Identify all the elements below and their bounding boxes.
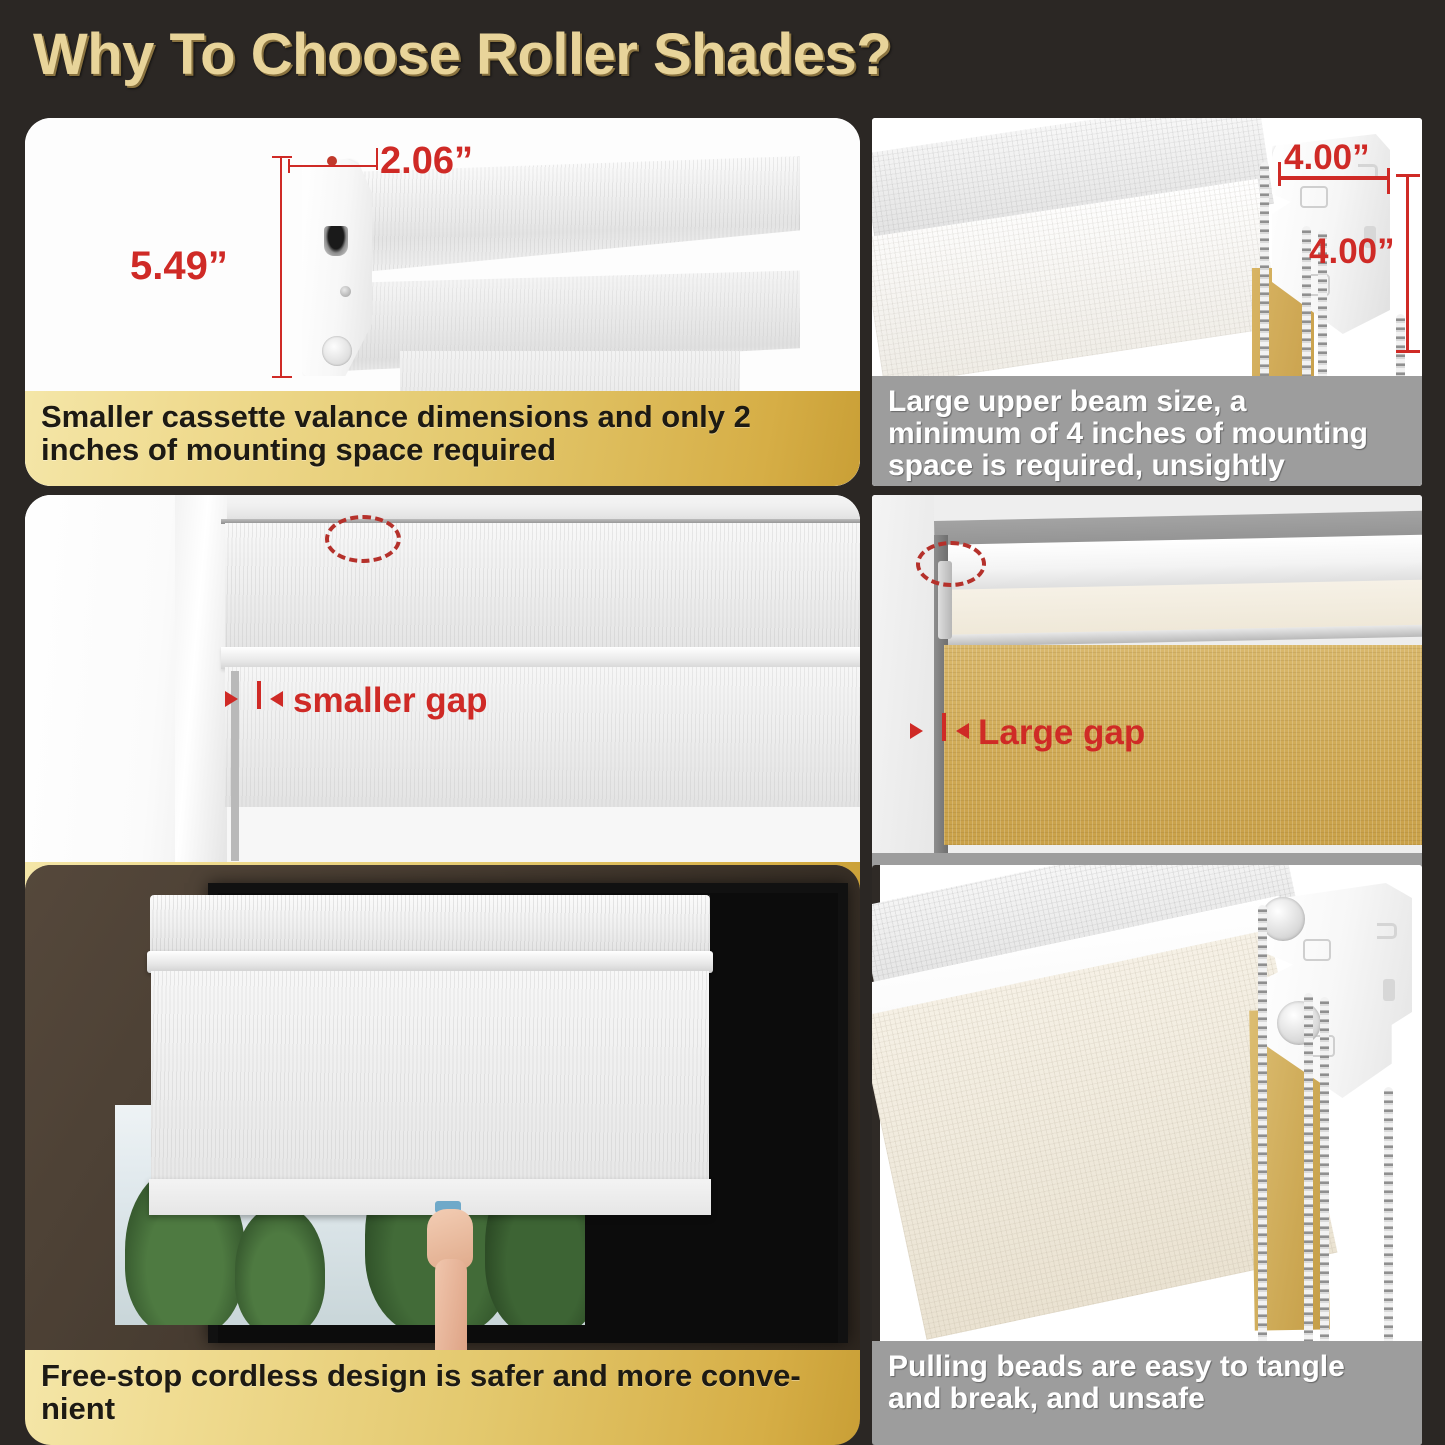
dimension-label-height: 4.00”: [1309, 234, 1395, 269]
caption-panel-2: Large upper beam size, a minimum of 4 in…: [872, 376, 1422, 486]
bead-chain[interactable]: [1258, 905, 1267, 1375]
caption-line: Large upper beam size, a: [888, 386, 1408, 418]
panel-large-upper-beam: 4.00” 4.00” Large upper beam size, a min…: [872, 118, 1422, 486]
bead-chain[interactable]: [1384, 1087, 1393, 1375]
panel-smaller-cassette: 5.49” 2.06” Smaller cassette valance dim…: [25, 118, 860, 486]
gap-tick: [257, 681, 261, 709]
arrow-left-icon: [956, 723, 969, 739]
dimension-label-width: 4.00”: [1284, 140, 1370, 175]
highlight-ring-icon: [916, 541, 986, 587]
highlight-ring-icon: [325, 515, 401, 563]
dimension-line-vertical: [1406, 174, 1409, 352]
caption-line: space is required, unsightly: [888, 450, 1408, 482]
caption-panel-1: Smaller cassette valance dimensions and …: [25, 391, 860, 486]
valance-slot: [324, 226, 348, 256]
dimension-tick-right: [376, 148, 378, 170]
arrow-right-icon: [225, 691, 238, 707]
bead-chain[interactable]: [1320, 997, 1329, 1375]
dimension-tick-top: [1396, 174, 1420, 177]
dimension-tick-left: [288, 159, 290, 173]
arrow-left-icon: [270, 691, 283, 707]
caption-line: inches of mounting space required: [41, 434, 846, 467]
caption-line: Smaller cassette valance dimensions and …: [41, 401, 846, 434]
annotation-smaller-gap: smaller gap: [293, 683, 488, 718]
dimension-line-horizontal: [288, 165, 378, 167]
cassette-valance-product: [280, 146, 800, 376]
caption-line: minimum of 4 inches of mounting: [888, 418, 1408, 450]
roller-bracket: [1267, 883, 1412, 1098]
caption-line: and break, and unsafe: [888, 1383, 1408, 1415]
caption-panel-6: Pulling beads are easy to tangle and bre…: [872, 1341, 1422, 1445]
caption-line: Pulling beads are easy to tangle: [888, 1351, 1408, 1383]
dimension-line-vertical: [280, 156, 282, 378]
dimension-tick-right: [1387, 168, 1390, 194]
valance-screw: [340, 286, 351, 297]
panel-pulling-beads: Pulling beads are easy to tangle and bre…: [872, 865, 1422, 1445]
hand-pulling-shade: [421, 1209, 477, 1359]
bead-chain: [1260, 162, 1269, 382]
dimension-tick-left: [1278, 162, 1281, 186]
valance-roller: [322, 336, 352, 366]
gap-tick: [942, 713, 946, 741]
caption-panel-5: Free-stop cordless design is safer and m…: [25, 1350, 860, 1445]
dimension-tick-bottom: [1396, 350, 1420, 353]
dimension-tick-bottom: [272, 376, 292, 378]
arrow-right-icon: [910, 723, 923, 739]
dimension-label-depth: 2.06”: [380, 142, 473, 180]
dimension-label-height: 5.49”: [130, 246, 228, 286]
caption-line: Free-stop cordless design is safer and m…: [41, 1360, 846, 1393]
caption-line: nient: [41, 1393, 846, 1426]
annotation-large-gap: Large gap: [978, 715, 1145, 750]
comparison-grid: 5.49” 2.06” Smaller cassette valance dim…: [0, 110, 1445, 1445]
panel-cordless-design: Free-stop cordless design is safer and m…: [25, 865, 860, 1445]
bead-chain: [1396, 314, 1405, 384]
page-title: Why To Choose Roller Shades?: [33, 20, 1413, 90]
bead-chain[interactable]: [1304, 993, 1313, 1375]
dimension-tick-top: [272, 156, 292, 158]
